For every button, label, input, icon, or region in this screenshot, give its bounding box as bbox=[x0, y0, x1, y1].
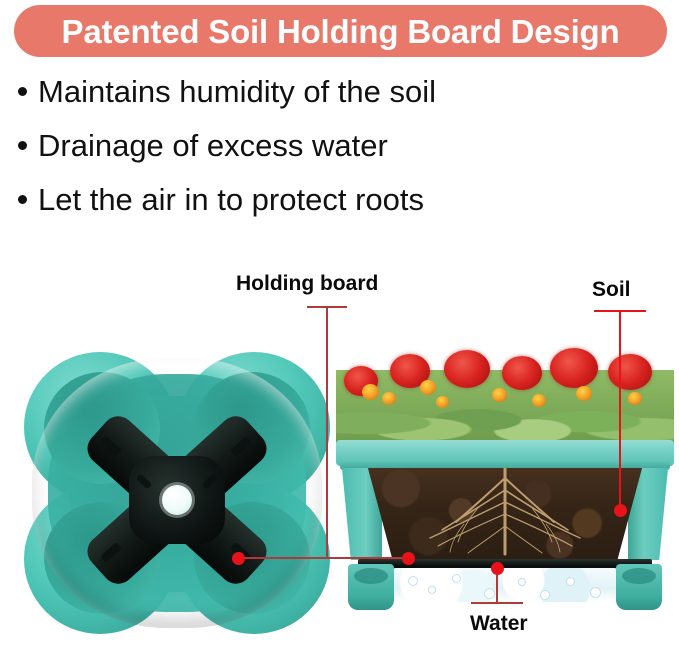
planter-foot-inner bbox=[622, 568, 656, 584]
feature-list: Maintains humidity of the soil Drainage … bbox=[18, 70, 658, 232]
accent-flower-bloom bbox=[628, 392, 642, 405]
water-bubble-icon bbox=[484, 588, 495, 599]
water-bubble-icon bbox=[518, 578, 526, 586]
callout-label-water: Water bbox=[470, 612, 528, 636]
flower-bloom bbox=[608, 354, 652, 390]
anchor-dot-holding-board-left bbox=[232, 552, 245, 565]
water-bubble-icon bbox=[452, 574, 461, 583]
callout-label-soil: Soil bbox=[592, 278, 631, 302]
feature-label: Maintains humidity of the soil bbox=[38, 70, 436, 114]
leader-line-holding-board bbox=[326, 306, 328, 558]
water-bubble-icon bbox=[428, 586, 436, 594]
product-diagram: Holding board Soil Water bbox=[0, 250, 679, 646]
anchor-dot-soil bbox=[614, 504, 627, 517]
feature-label: Drainage of excess water bbox=[38, 124, 388, 168]
accent-flower-bloom bbox=[420, 380, 436, 395]
infographic-canvas: Patented Soil Holding Board Design Maint… bbox=[0, 0, 679, 646]
water-bubble-icon bbox=[540, 590, 550, 600]
planter-foot bbox=[348, 564, 394, 610]
planter-foot bbox=[616, 564, 662, 610]
root-system-icon bbox=[368, 468, 642, 560]
top-down-planter-photo bbox=[18, 348, 336, 638]
cross-section-planter-photo bbox=[336, 340, 674, 640]
bullet-dot-icon bbox=[18, 195, 27, 204]
water-bubble-icon bbox=[408, 576, 418, 586]
water-reservoir bbox=[390, 568, 620, 602]
page-title: Patented Soil Holding Board Design bbox=[62, 15, 620, 48]
leader-line-water bbox=[496, 570, 498, 604]
accent-flower-bloom bbox=[362, 384, 379, 400]
soil-mass bbox=[368, 468, 642, 560]
leader-line-holding-board-horizontal bbox=[238, 557, 410, 559]
water-bubble-icon bbox=[590, 587, 601, 598]
anchor-dot-holding-board-right bbox=[402, 552, 415, 565]
list-item: Drainage of excess water bbox=[18, 124, 658, 168]
flower-bloom bbox=[444, 350, 490, 388]
list-item: Maintains humidity of the soil bbox=[18, 70, 658, 114]
bullet-dot-icon bbox=[18, 87, 27, 96]
flower-bloom bbox=[502, 356, 542, 390]
bullet-dot-icon bbox=[18, 141, 27, 150]
header-banner: Patented Soil Holding Board Design bbox=[14, 5, 667, 57]
accent-flower-bloom bbox=[382, 392, 396, 405]
callout-label-holding-board: Holding board bbox=[236, 272, 378, 296]
anchor-dot-water bbox=[491, 562, 504, 575]
board-center-hole bbox=[162, 485, 192, 515]
accent-flower-bloom bbox=[576, 386, 592, 401]
water-bubble-icon bbox=[566, 577, 575, 586]
planter-foot-inner bbox=[354, 568, 388, 584]
list-item: Let the air in to protect roots bbox=[18, 178, 658, 222]
feature-label: Let the air in to protect roots bbox=[38, 178, 424, 222]
soil-holding-board bbox=[70, 400, 284, 600]
leader-line-soil bbox=[619, 310, 621, 510]
accent-flower-bloom bbox=[436, 396, 449, 408]
accent-flower-bloom bbox=[532, 394, 546, 407]
flower-bloom bbox=[550, 348, 598, 388]
plant-foliage bbox=[336, 340, 674, 446]
accent-flower-bloom bbox=[492, 388, 507, 402]
